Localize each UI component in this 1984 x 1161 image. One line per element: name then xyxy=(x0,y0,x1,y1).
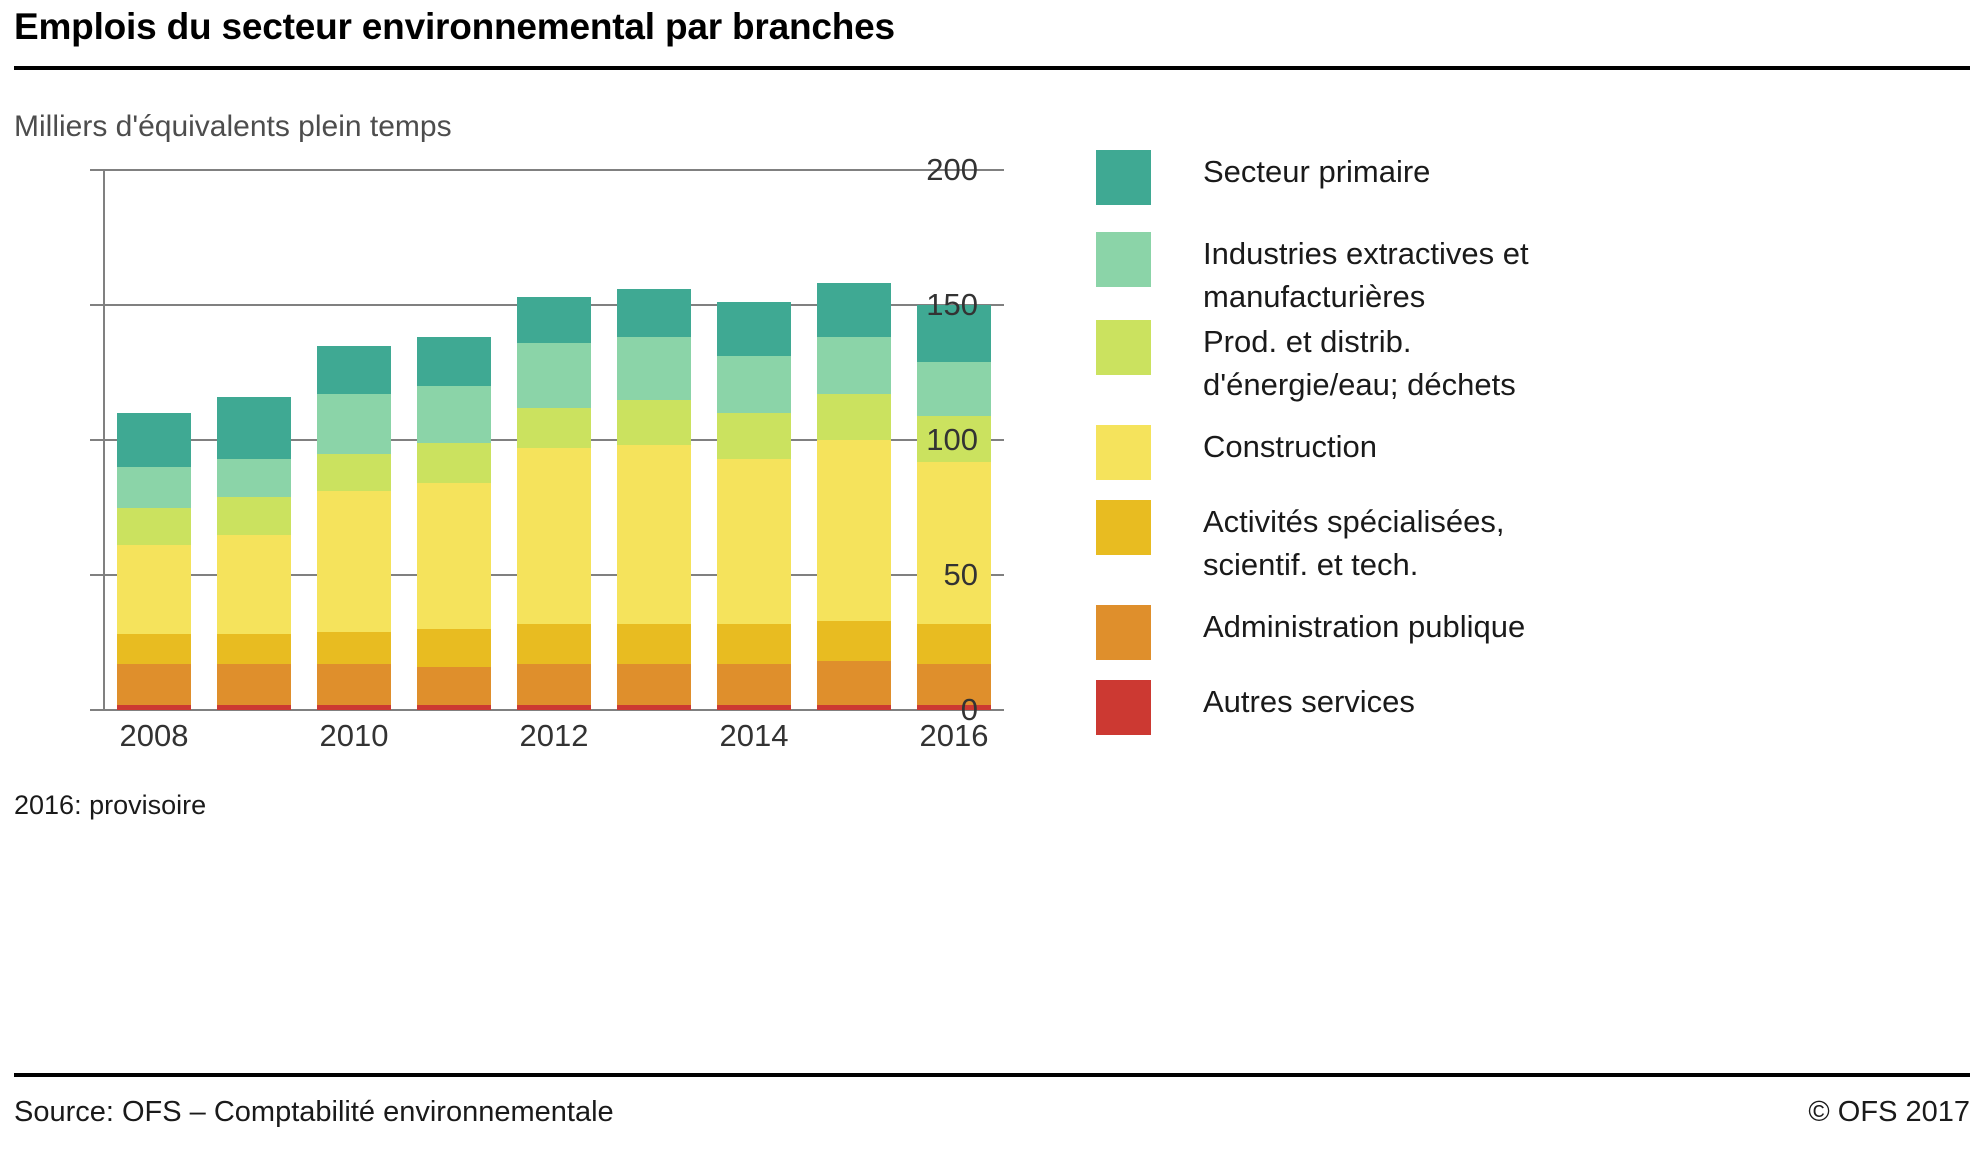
title-divider xyxy=(14,66,1970,70)
bar-segment[interactable] xyxy=(317,664,391,705)
bar-segment[interactable] xyxy=(517,705,591,710)
bar-segment[interactable] xyxy=(117,508,191,546)
bar-segment[interactable] xyxy=(817,283,891,337)
bar-segment[interactable] xyxy=(617,289,691,338)
bar-segment[interactable] xyxy=(817,621,891,662)
bar-segment[interactable] xyxy=(217,664,291,705)
bar-segment[interactable] xyxy=(117,467,191,508)
legend-color-swatch xyxy=(1096,500,1151,555)
bar-segment[interactable] xyxy=(417,705,491,710)
bar-segment[interactable] xyxy=(317,705,391,710)
y-axis-tick xyxy=(90,304,104,306)
bar-segment[interactable] xyxy=(917,362,991,416)
legend-item[interactable]: Activités spécialisées, scientif. et tec… xyxy=(1096,500,1505,586)
bar-segment[interactable] xyxy=(517,297,591,343)
stacked-bar[interactable] xyxy=(117,413,191,710)
x-axis-tick-label: 2014 xyxy=(674,718,834,754)
bar-segment[interactable] xyxy=(517,448,591,624)
plot-area xyxy=(104,170,1004,710)
bar-segment[interactable] xyxy=(717,624,791,665)
bar-segment[interactable] xyxy=(317,346,391,395)
y-axis-tick-label: 100 xyxy=(926,422,978,458)
bar-segment[interactable] xyxy=(417,386,491,443)
legend-item-label: Construction xyxy=(1203,425,1377,468)
bar-segment[interactable] xyxy=(317,394,391,453)
stacked-bar[interactable] xyxy=(217,397,291,710)
bar-segment[interactable] xyxy=(917,705,991,710)
legend-item-label: Activités spécialisées, scientif. et tec… xyxy=(1203,500,1505,586)
x-axis-tick-label: 2010 xyxy=(274,718,434,754)
legend-item[interactable]: Industries extractives et manufacturière… xyxy=(1096,232,1529,318)
bar-segment[interactable] xyxy=(217,397,291,459)
legend-color-swatch xyxy=(1096,680,1151,735)
bar-segment[interactable] xyxy=(417,337,491,386)
bar-segment[interactable] xyxy=(717,664,791,705)
bar-segment[interactable] xyxy=(917,624,991,665)
bar-segment[interactable] xyxy=(117,634,191,664)
bar-segment[interactable] xyxy=(517,624,591,665)
bar-segment[interactable] xyxy=(517,343,591,408)
stacked-bar[interactable] xyxy=(817,283,891,710)
bar-segment[interactable] xyxy=(417,667,491,705)
legend-item-label: Secteur primaire xyxy=(1203,150,1430,193)
bar-segment[interactable] xyxy=(217,634,291,664)
bar-segment[interactable] xyxy=(217,497,291,535)
gridline xyxy=(104,169,1004,171)
footer-divider xyxy=(14,1073,1970,1077)
bar-segment[interactable] xyxy=(717,459,791,624)
bar-segment[interactable] xyxy=(617,664,691,705)
bar-segment[interactable] xyxy=(317,454,391,492)
x-axis-tick-label: 2012 xyxy=(474,718,634,754)
bar-segment[interactable] xyxy=(617,445,691,623)
bar-segment[interactable] xyxy=(217,459,291,497)
legend-item[interactable]: Administration publique xyxy=(1096,605,1525,660)
bar-segment[interactable] xyxy=(217,705,291,710)
bar-segment[interactable] xyxy=(417,483,491,629)
bar-segment[interactable] xyxy=(617,624,691,665)
bar-segment[interactable] xyxy=(617,337,691,399)
bar-segment[interactable] xyxy=(817,661,891,704)
stacked-bar[interactable] xyxy=(517,297,591,710)
bar-segment[interactable] xyxy=(517,664,591,705)
bar-segment[interactable] xyxy=(917,664,991,705)
bar-segment[interactable] xyxy=(517,408,591,449)
legend-item-label: Prod. et distrib. d'énergie/eau; déchets xyxy=(1203,320,1516,406)
bar-segment[interactable] xyxy=(117,545,191,634)
legend-item[interactable]: Secteur primaire xyxy=(1096,150,1430,205)
bar-segment[interactable] xyxy=(317,632,391,664)
legend-item[interactable]: Autres services xyxy=(1096,680,1415,735)
legend-color-swatch xyxy=(1096,150,1151,205)
stacked-bar[interactable] xyxy=(917,305,991,710)
bar-segment[interactable] xyxy=(917,462,991,624)
footnote: 2016: provisoire xyxy=(14,790,206,821)
legend-item-label: Autres services xyxy=(1203,680,1415,723)
legend-color-swatch xyxy=(1096,232,1151,287)
y-axis-tick xyxy=(90,574,104,576)
bar-segment[interactable] xyxy=(817,440,891,621)
bar-segment[interactable] xyxy=(317,491,391,631)
y-axis-tick xyxy=(90,709,104,711)
y-axis-tick xyxy=(90,439,104,441)
bar-segment[interactable] xyxy=(717,705,791,710)
bar-segment[interactable] xyxy=(617,400,691,446)
bar-segment[interactable] xyxy=(117,705,191,710)
y-axis-tick-label: 200 xyxy=(926,152,978,188)
y-axis-tick xyxy=(90,169,104,171)
source-note: Source: OFS – Comptabilité environnement… xyxy=(14,1096,614,1129)
bar-segment[interactable] xyxy=(117,413,191,467)
bar-segment[interactable] xyxy=(717,356,791,413)
stacked-bar[interactable] xyxy=(417,337,491,710)
bar-segment[interactable] xyxy=(117,664,191,705)
legend-item-label: Administration publique xyxy=(1203,605,1525,648)
bar-segment[interactable] xyxy=(617,705,691,710)
legend-color-swatch xyxy=(1096,425,1151,480)
bar-segment[interactable] xyxy=(217,535,291,635)
y-axis-unit-label: Milliers d'équivalents plein temps xyxy=(14,110,452,144)
bar-segment[interactable] xyxy=(817,394,891,440)
stacked-bar[interactable] xyxy=(717,302,791,710)
x-axis-tick-label: 2008 xyxy=(74,718,234,754)
copyright-note: © OFS 2017 xyxy=(1808,1096,1970,1129)
bar-segment[interactable] xyxy=(717,302,791,356)
stacked-bar[interactable] xyxy=(317,346,391,710)
bar-segment[interactable] xyxy=(417,629,491,667)
page-title: Emplois du secteur environnemental par b… xyxy=(14,6,895,48)
legend-color-swatch xyxy=(1096,320,1151,375)
legend-item-label: Industries extractives et manufacturière… xyxy=(1203,232,1529,318)
bar-segment[interactable] xyxy=(817,337,891,394)
stacked-bar[interactable] xyxy=(617,289,691,710)
legend-color-swatch xyxy=(1096,605,1151,660)
legend-item[interactable]: Construction xyxy=(1096,425,1377,480)
x-axis-tick-label: 2016 xyxy=(874,718,1034,754)
bar-segment[interactable] xyxy=(417,443,491,484)
y-axis-tick-label: 150 xyxy=(926,287,978,323)
legend-item[interactable]: Prod. et distrib. d'énergie/eau; déchets xyxy=(1096,320,1516,406)
bar-segment[interactable] xyxy=(717,413,791,459)
y-axis-tick-label: 50 xyxy=(944,557,978,593)
bar-segment[interactable] xyxy=(817,705,891,710)
